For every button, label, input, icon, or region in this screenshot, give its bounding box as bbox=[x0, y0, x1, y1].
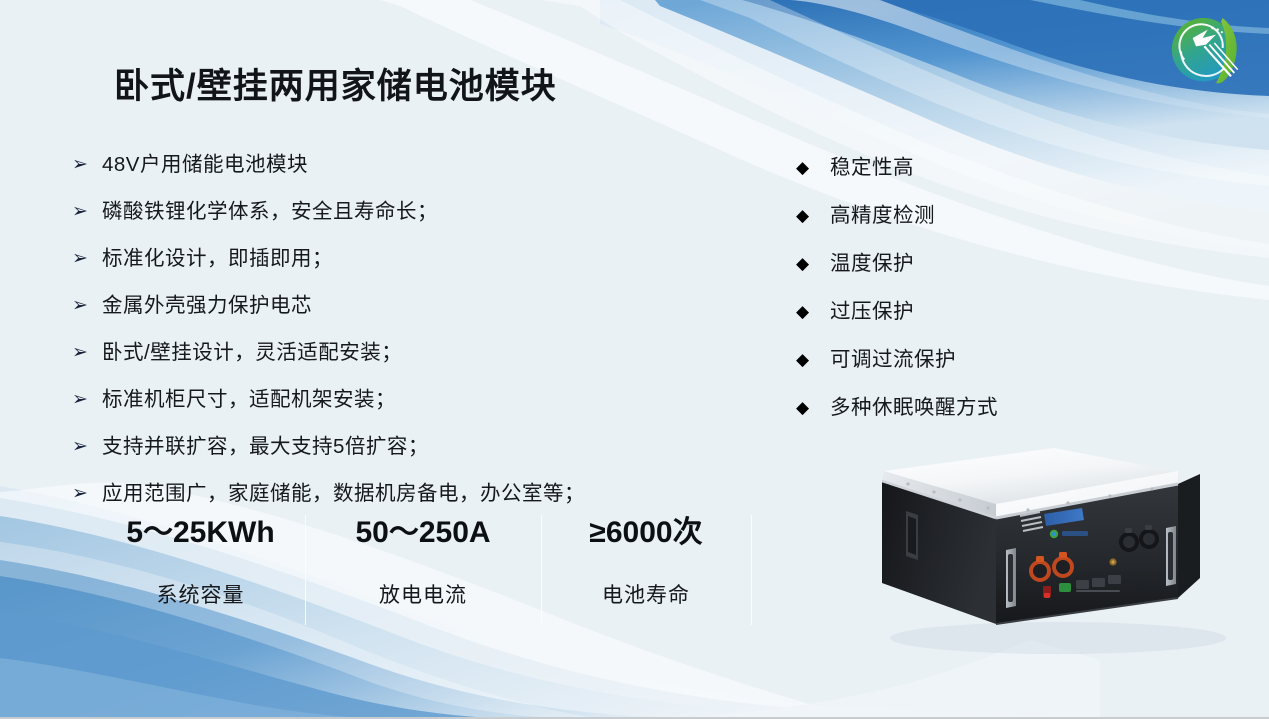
diamond-bullet-icon: ◆ bbox=[796, 251, 830, 277]
list-item: ◆ 稳定性高 bbox=[796, 155, 1146, 181]
list-item: ◆ 温度保护 bbox=[796, 251, 1146, 277]
list-item: ◆ 高精度检测 bbox=[796, 203, 1146, 229]
battery-module-photo bbox=[848, 438, 1250, 670]
arrow-bullet-icon: ➢ bbox=[72, 246, 102, 272]
stat-label: 电池寿命 bbox=[541, 583, 751, 609]
company-logo-icon bbox=[1163, 8, 1249, 88]
arrow-bullet-icon: ➢ bbox=[72, 387, 102, 413]
list-item: ◆ 多种休眠唤醒方式 bbox=[796, 395, 1146, 421]
stat-divider bbox=[751, 515, 752, 625]
diamond-bullet-icon: ◆ bbox=[796, 155, 830, 181]
stat-capacity: 5～25KWh 系统容量 bbox=[96, 515, 305, 609]
stats-row: 5～25KWh 系统容量 50～250A 放电电流 ≥6000次 电池寿命 bbox=[96, 515, 751, 627]
list-item-label: 48V户用储能电池模块 bbox=[102, 152, 308, 178]
diamond-bullet-icon: ◆ bbox=[796, 299, 830, 325]
diamond-bullet-icon: ◆ bbox=[796, 395, 830, 421]
list-item: ➢ 应用范围广，家庭储能，数据机房备电，办公室等； bbox=[72, 481, 732, 507]
feature-list-left: ➢ 48V户用储能电池模块 ➢ 磷酸铁锂化学体系，安全且寿命长； ➢ 标准化设计… bbox=[72, 152, 732, 528]
list-item-label: 多种休眠唤醒方式 bbox=[830, 395, 998, 421]
list-item: ➢ 48V户用储能电池模块 bbox=[72, 152, 732, 178]
arrow-bullet-icon: ➢ bbox=[72, 340, 102, 366]
list-item: ➢ 金属外壳强力保护电芯 bbox=[72, 293, 732, 319]
list-item-label: 过压保护 bbox=[830, 299, 914, 325]
list-item: ➢ 标准化设计，即插即用； bbox=[72, 246, 732, 272]
list-item-label: 应用范围广，家庭储能，数据机房备电，办公室等； bbox=[102, 481, 585, 507]
diamond-bullet-icon: ◆ bbox=[796, 203, 830, 229]
battery-module-illustration bbox=[848, 438, 1250, 670]
stat-value: ≥6000次 bbox=[541, 515, 751, 551]
feature-list-right: ◆ 稳定性高 ◆ 高精度检测 ◆ 温度保护 ◆ 过压保护 ◆ 可调过流保护 ◆ … bbox=[796, 155, 1146, 443]
diamond-bullet-icon: ◆ bbox=[796, 347, 830, 373]
list-item-label: 标准化设计，即插即用； bbox=[102, 246, 333, 272]
list-item-label: 磷酸铁锂化学体系，安全且寿命长； bbox=[102, 199, 438, 225]
slide-title: 卧式/壁挂两用家储电池模块 bbox=[114, 58, 557, 109]
stat-cycle-life: ≥6000次 电池寿命 bbox=[541, 515, 751, 609]
list-item: ➢ 支持并联扩容，最大支持5倍扩容； bbox=[72, 434, 732, 460]
presentation-slide: 卧式/壁挂两用家储电池模块 ➢ 48V户用储能电池模块 ➢ 磷酸铁锂化学体系，安… bbox=[0, 0, 1269, 719]
stat-discharge-current: 50～250A 放电电流 bbox=[305, 515, 541, 609]
arrow-bullet-icon: ➢ bbox=[72, 434, 102, 460]
stat-label: 系统容量 bbox=[96, 583, 305, 609]
list-item: ➢ 磷酸铁锂化学体系，安全且寿命长； bbox=[72, 199, 732, 225]
stat-value: 50～250A bbox=[305, 515, 541, 551]
arrow-bullet-icon: ➢ bbox=[72, 152, 102, 178]
stat-label: 放电电流 bbox=[305, 583, 541, 609]
list-item: ➢ 卧式/壁挂设计，灵活适配安装； bbox=[72, 340, 732, 366]
list-item-label: 高精度检测 bbox=[830, 203, 935, 229]
logo-svg bbox=[1163, 8, 1249, 88]
list-item-label: 可调过流保护 bbox=[830, 347, 956, 373]
arrow-bullet-icon: ➢ bbox=[72, 293, 102, 319]
arrow-bullet-icon: ➢ bbox=[72, 199, 102, 225]
list-item-label: 温度保护 bbox=[830, 251, 914, 277]
list-item: ◆ 可调过流保护 bbox=[796, 347, 1146, 373]
list-item-label: 标准机柜尺寸，适配机架安装； bbox=[102, 387, 396, 413]
list-item: ➢ 标准机柜尺寸，适配机架安装； bbox=[72, 387, 732, 413]
list-item-label: 金属外壳强力保护电芯 bbox=[102, 293, 312, 319]
list-item-label: 支持并联扩容，最大支持5倍扩容； bbox=[102, 434, 429, 460]
list-item-label: 稳定性高 bbox=[830, 155, 914, 181]
arrow-bullet-icon: ➢ bbox=[72, 481, 102, 507]
list-item-label: 卧式/壁挂设计，灵活适配安装； bbox=[102, 340, 402, 366]
stat-value: 5～25KWh bbox=[96, 515, 305, 551]
list-item: ◆ 过压保护 bbox=[796, 299, 1146, 325]
